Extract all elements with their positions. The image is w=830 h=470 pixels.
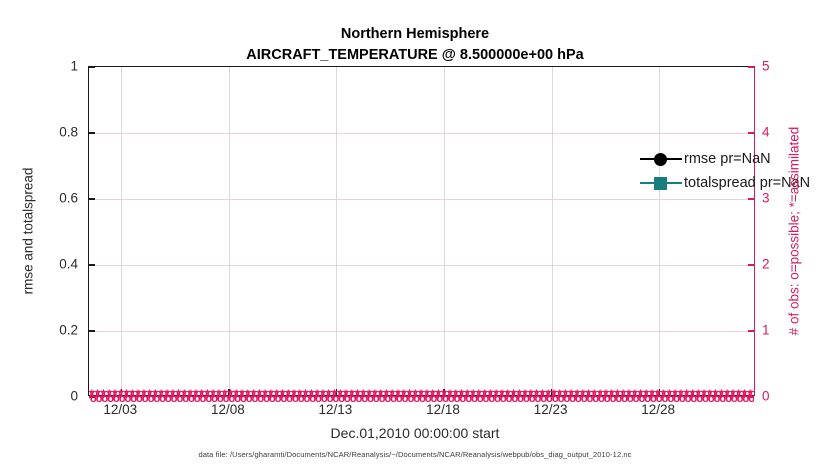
observation-marker: * (454, 386, 458, 402)
observation-marker: o (369, 386, 376, 402)
observation-marker: o (298, 391, 305, 402)
observation-marker: o (201, 386, 208, 402)
observation-marker: * (419, 386, 423, 402)
gridline-horizontal (89, 331, 754, 332)
observation-marker: * (129, 391, 133, 402)
observation-marker: o (317, 386, 324, 402)
observation-marker: * (517, 386, 521, 402)
observation-marker: o (709, 386, 716, 402)
observation-marker: o (425, 391, 432, 402)
x-tick-mark (659, 389, 660, 395)
observation-marker: o (384, 391, 391, 402)
observation-marker: o (177, 391, 184, 402)
observation-marker: o (182, 391, 189, 402)
observation-marker: * (533, 391, 537, 402)
observation-marker: o (523, 391, 530, 402)
observation-marker: * (396, 386, 400, 402)
observation-marker: * (475, 391, 479, 402)
observation-marker: * (469, 391, 473, 402)
observation-marker: o (633, 391, 640, 402)
observation-marker: o (194, 391, 201, 402)
observation-marker: o (650, 391, 657, 402)
observation-marker: * (215, 391, 219, 402)
observation-marker: o (558, 391, 565, 402)
observation-marker: o (373, 391, 380, 402)
observation-marker: * (459, 386, 463, 402)
gridline-vertical (229, 67, 230, 395)
observation-marker: o (698, 386, 705, 402)
observation-marker: o (357, 386, 364, 402)
observation-marker: * (516, 391, 520, 402)
observation-marker: o (529, 391, 536, 402)
observation-marker: o (628, 386, 635, 402)
observation-marker: o (750, 386, 754, 402)
observation-marker: * (604, 386, 608, 402)
observation-marker: o (725, 391, 732, 402)
observation-marker: * (609, 386, 613, 402)
y-tick-label: 0 (18, 389, 78, 404)
observation-marker: o (744, 386, 751, 402)
x-tick-label: 12/13 (295, 402, 375, 417)
y-tick-mark-right (748, 264, 754, 265)
observation-marker: o (97, 386, 104, 402)
observation-marker: o (426, 386, 433, 402)
observation-marker: o (702, 391, 709, 402)
observation-marker: * (545, 391, 549, 402)
observation-marker: o (419, 391, 426, 402)
observation-marker: o (102, 391, 109, 402)
observation-marker: o (257, 391, 264, 402)
y-tick-mark (89, 198, 95, 199)
observation-marker: * (511, 386, 515, 402)
observation-marker: * (563, 386, 567, 402)
observation-marker: * (198, 391, 202, 402)
observation-marker: * (163, 391, 167, 402)
observation-marker: o (432, 386, 439, 402)
observation-marker: * (731, 386, 735, 402)
observation-marker: * (314, 391, 318, 402)
y-tick-mark (89, 132, 95, 133)
x-tick-label: 12/03 (80, 402, 160, 417)
legend-swatch-totalspread (640, 174, 682, 192)
observation-marker: * (355, 386, 359, 402)
observation-marker: o (610, 391, 617, 402)
observation-marker: o (737, 391, 744, 402)
observation-marker: o (396, 391, 403, 402)
observation-marker: o (188, 391, 195, 402)
observation-marker: * (575, 386, 579, 402)
observation-marker: * (458, 391, 462, 402)
observation-marker: o (460, 391, 467, 402)
observation-marker: * (672, 391, 676, 402)
observation-marker: o (413, 391, 420, 402)
observation-marker: * (631, 391, 635, 402)
observation-marker: o (270, 386, 277, 402)
observation-marker: * (365, 391, 369, 402)
observation-marker: o (552, 391, 559, 402)
observation-marker: o (304, 391, 311, 402)
observation-marker: * (389, 391, 393, 402)
observation-marker: o (662, 391, 669, 402)
observation-marker: o (286, 391, 293, 402)
observation-marker: o (431, 391, 438, 402)
observation-marker: * (596, 391, 600, 402)
observation-marker: o (559, 386, 566, 402)
observation-marker: * (361, 386, 365, 402)
observation-marker: * (378, 386, 382, 402)
observation-marker: o (727, 386, 734, 402)
observation-marker: * (556, 391, 560, 402)
observation-marker: * (159, 386, 163, 402)
observation-marker: * (309, 386, 313, 402)
observation-marker: o (535, 391, 542, 402)
observation-marker: o (218, 386, 225, 402)
observation-marker: * (695, 391, 699, 402)
observation-marker: * (186, 391, 190, 402)
observation-marker: o (259, 386, 266, 402)
observation-marker: * (737, 386, 741, 402)
gridline-vertical (659, 67, 660, 395)
observation-marker: * (147, 386, 151, 402)
observation-marker: * (290, 391, 294, 402)
gridline-vertical (552, 67, 553, 395)
gridline-vertical (121, 67, 122, 395)
observation-marker: o (731, 391, 738, 402)
observation-marker: o (448, 391, 455, 402)
chart-figure: Northern Hemisphere AIRCRAFT_TEMPERATURE… (0, 0, 830, 470)
observation-marker: o (563, 391, 570, 402)
observation-marker: * (504, 391, 508, 402)
observation-marker: o (299, 386, 306, 402)
observation-marker: o (663, 386, 670, 402)
observation-marker: * (487, 391, 491, 402)
observation-marker: * (240, 386, 244, 402)
observation-marker: * (275, 386, 279, 402)
observation-marker: o (488, 391, 495, 402)
observation-marker: o (490, 386, 497, 402)
observation-marker: * (181, 391, 185, 402)
observation-marker: * (637, 391, 641, 402)
observation-marker: * (482, 386, 486, 402)
observation-marker: * (573, 391, 577, 402)
observation-marker: * (591, 391, 595, 402)
observation-marker: * (373, 386, 377, 402)
observation-marker: * (633, 386, 637, 402)
observation-marker: * (477, 386, 481, 402)
observation-marker: o (89, 386, 92, 402)
x-tick-label: 12/28 (618, 402, 698, 417)
observation-marker: * (152, 391, 156, 402)
observation-marker: o (506, 391, 513, 402)
observation-marker: o (126, 386, 133, 402)
observation-marker: o (704, 386, 711, 402)
observation-marker: o (598, 391, 605, 402)
observation-marker: o (172, 386, 179, 402)
observation-marker: o (363, 386, 370, 402)
observation-marker: o (621, 391, 628, 402)
observation-marker: o (484, 386, 491, 402)
observation-marker: * (234, 386, 238, 402)
observation-marker: * (194, 386, 198, 402)
observation-marker: o (125, 391, 132, 402)
observation-marker: * (233, 391, 237, 402)
x-tick-mark (336, 389, 337, 395)
observation-marker: o (386, 386, 393, 402)
observation-marker: o (639, 391, 646, 402)
observation-marker-row: o*o*o*o*o*o*o*o*o*o*o*o*o*o*o*o*o*o*o*o*… (89, 386, 754, 402)
observation-marker: o (190, 386, 197, 402)
legend-item-totalspread: totalspread pr=NaN (640, 173, 810, 192)
observation-marker: * (199, 386, 203, 402)
observation-marker: * (344, 386, 348, 402)
observation-marker: o (525, 386, 532, 402)
observation-marker: o (269, 391, 276, 402)
observation-marker: * (142, 386, 146, 402)
observation-marker: * (204, 391, 208, 402)
observation-marker: * (407, 386, 411, 402)
observation-marker: o (91, 386, 98, 402)
observation-marker: o (159, 391, 166, 402)
observation-marker: * (279, 391, 283, 402)
observation-marker: * (523, 386, 527, 402)
observation-marker: o (211, 391, 218, 402)
y-tick-mark-right (748, 330, 754, 331)
observation-marker: * (598, 386, 602, 402)
observation-marker: * (510, 391, 514, 402)
observation-marker: * (256, 391, 260, 402)
observation-marker: o (344, 391, 351, 402)
observation-marker: * (303, 386, 307, 402)
observation-marker: o (421, 386, 428, 402)
observation-marker: o (685, 391, 692, 402)
observation-marker: * (527, 391, 531, 402)
observation-marker: o (436, 391, 443, 402)
observation-marker: o (471, 391, 478, 402)
observation-marker: * (285, 391, 289, 402)
y-tick-mark-right (748, 396, 754, 397)
observation-marker: o (397, 386, 404, 402)
observation-marker: o (309, 391, 316, 402)
observation-marker: * (446, 391, 450, 402)
observation-marker: * (724, 391, 728, 402)
observation-marker: o (652, 386, 659, 402)
observation-marker: * (627, 386, 631, 402)
observation-marker: o (246, 391, 253, 402)
observation-marker: * (677, 391, 681, 402)
observation-marker: * (729, 391, 733, 402)
y-axis-label: rmse and totalspread (21, 168, 36, 295)
observation-marker: o (265, 386, 272, 402)
observation-marker: o (282, 386, 289, 402)
observation-marker: * (614, 391, 618, 402)
observation-marker: * (690, 386, 694, 402)
observation-marker: * (246, 386, 250, 402)
observation-marker: * (429, 391, 433, 402)
observation-marker: o (402, 391, 409, 402)
observation-marker: o (276, 386, 283, 402)
observation-marker: * (90, 386, 94, 402)
observation-marker: * (257, 386, 261, 402)
observation-marker: * (130, 386, 134, 402)
observation-marker: * (546, 386, 550, 402)
observation-marker: * (625, 391, 629, 402)
observation-marker: * (280, 386, 284, 402)
observation-marker: o (409, 386, 416, 402)
observation-marker: o (240, 391, 247, 402)
observation-marker: * (700, 391, 704, 402)
observation-marker: o (207, 386, 214, 402)
observation-marker: o (667, 391, 674, 402)
observation-marker: * (592, 386, 596, 402)
observation-marker: * (210, 391, 214, 402)
observation-marker: * (238, 391, 242, 402)
observation-marker: o (263, 391, 270, 402)
observation-marker: o (644, 391, 651, 402)
observation-marker: * (540, 386, 544, 402)
observation-marker: * (673, 386, 677, 402)
observation-marker: * (123, 391, 127, 402)
legend-label-rmse: rmse pr=NaN (684, 151, 771, 167)
observation-marker: * (615, 386, 619, 402)
observation-marker: o (675, 386, 682, 402)
observation-marker: * (539, 391, 543, 402)
y-tick-label: 1 (18, 59, 78, 74)
observation-marker: * (713, 386, 717, 402)
observation-marker: o (605, 386, 612, 402)
circle-marker-icon (654, 153, 667, 166)
observation-marker: o (275, 391, 282, 402)
observation-marker: o (338, 391, 345, 402)
y-tick-mark (89, 66, 95, 67)
observation-marker: o (640, 386, 647, 402)
x-tick-mark (121, 389, 122, 395)
observation-marker: o (327, 391, 334, 402)
observation-marker: o (328, 386, 335, 402)
observation-marker: o (390, 391, 397, 402)
observation-marker: * (481, 391, 485, 402)
observation-marker: * (135, 391, 139, 402)
observation-marker: o (374, 386, 381, 402)
observation-marker: o (149, 386, 156, 402)
observation-marker: o (517, 391, 524, 402)
observation-marker: * (644, 386, 648, 402)
observation-marker: * (113, 386, 117, 402)
observation-marker: o (507, 386, 514, 402)
observation-marker: o (594, 386, 601, 402)
observation-marker: * (620, 391, 624, 402)
chart-subtitle: AIRCRAFT_TEMPERATURE @ 8.500000e+00 hPa (0, 45, 830, 66)
observation-marker: * (558, 386, 562, 402)
observation-marker: * (660, 391, 664, 402)
observation-marker: * (100, 391, 104, 402)
square-marker-icon (654, 177, 667, 190)
observation-marker: o (153, 391, 160, 402)
observation-marker: * (384, 386, 388, 402)
x-tick-mark (551, 389, 552, 395)
observation-marker: * (338, 386, 342, 402)
observation-marker: o (581, 391, 588, 402)
observation-marker: * (402, 386, 406, 402)
observation-marker: * (406, 391, 410, 402)
observation-marker: o (143, 386, 150, 402)
observation-marker: o (519, 386, 526, 402)
observation-marker: * (315, 386, 319, 402)
observation-marker: * (488, 386, 492, 402)
observation-marker: * (286, 386, 290, 402)
observation-marker: o (321, 391, 328, 402)
observation-marker: o (130, 391, 137, 402)
observation-marker: o (708, 391, 715, 402)
observation-marker: * (448, 386, 452, 402)
observation-marker: * (267, 391, 271, 402)
observation-marker: o (178, 386, 185, 402)
observation-marker: * (638, 386, 642, 402)
observation-marker: o (230, 386, 237, 402)
observation-marker: o (247, 386, 254, 402)
observation-marker: * (292, 386, 296, 402)
x-tick-label: 12/08 (188, 402, 268, 417)
observation-marker: * (192, 391, 196, 402)
y-tick-mark-right (748, 66, 754, 67)
gridline-vertical (444, 67, 445, 395)
observation-marker: * (360, 391, 364, 402)
observation-marker: * (667, 386, 671, 402)
observation-marker: o (715, 386, 722, 402)
observation-marker: * (308, 391, 312, 402)
observation-marker: * (689, 391, 693, 402)
observation-marker: o (205, 391, 212, 402)
y-axis-right-label: # of obs: o=possible; *=assimilated (787, 127, 802, 336)
observation-marker: * (250, 391, 254, 402)
observation-marker: o (496, 386, 503, 402)
observation-marker: * (621, 386, 625, 402)
observation-marker: * (725, 386, 729, 402)
gridline-vertical (336, 67, 337, 395)
observation-marker: * (702, 386, 706, 402)
observation-marker: o (571, 386, 578, 402)
observation-marker: o (454, 391, 461, 402)
x-tick-mark (228, 389, 229, 395)
observation-marker: * (302, 391, 306, 402)
observation-marker: * (342, 391, 346, 402)
observation-marker: o (288, 386, 295, 402)
observation-marker: * (325, 391, 329, 402)
y-tick-label: 0.2 (18, 323, 78, 338)
observation-marker: * (425, 386, 429, 402)
observation-marker: o (96, 391, 103, 402)
observation-marker: o (148, 391, 155, 402)
observation-marker: * (158, 391, 162, 402)
observation-marker: o (721, 386, 728, 402)
observation-marker: * (498, 391, 502, 402)
observation-marker: * (298, 386, 302, 402)
observation-marker: o (113, 391, 120, 402)
observation-marker: * (153, 386, 157, 402)
observation-marker: o (281, 391, 288, 402)
observation-marker: * (106, 391, 110, 402)
observation-marker: * (718, 391, 722, 402)
observation-marker: o (242, 386, 249, 402)
observation-marker: * (263, 386, 267, 402)
y-tick-label: 0.8 (18, 125, 78, 140)
observation-marker: * (464, 391, 468, 402)
y-tick-mark (89, 264, 95, 265)
observation-marker: o (345, 386, 352, 402)
observation-marker: * (350, 386, 354, 402)
y-tick-mark (89, 330, 95, 331)
observation-marker: o (166, 386, 173, 402)
observation-marker: * (188, 386, 192, 402)
